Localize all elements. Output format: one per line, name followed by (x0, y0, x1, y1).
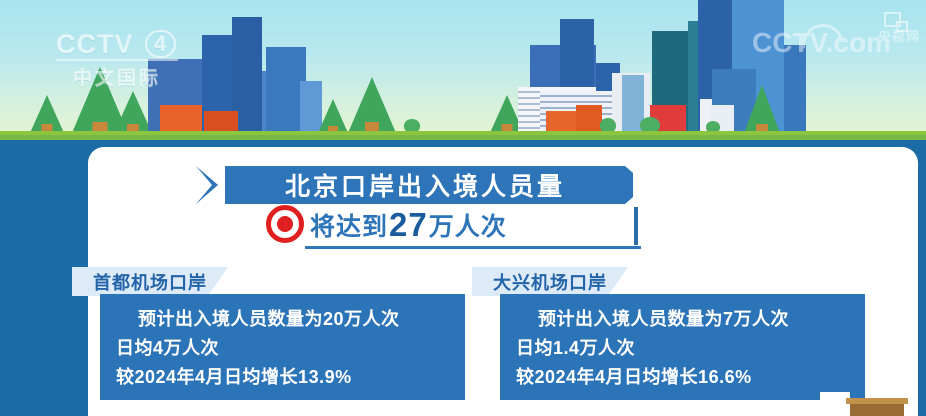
building-orange (546, 111, 576, 133)
tree (318, 93, 348, 133)
tab-slant-edge (208, 267, 228, 296)
subtitle-prefix: 将达到 (310, 207, 388, 243)
card-tab-label: 首都机场口岸 (93, 267, 207, 296)
card-line: 日均4万人次 (116, 334, 465, 363)
overlapping-squares-icon (884, 12, 910, 34)
building-red (204, 111, 238, 133)
headline-underline (305, 246, 641, 249)
card-tab-label: 大兴机场口岸 (493, 267, 607, 296)
card-line: 日均1.4万人次 (516, 334, 865, 363)
city-skyline-illustration (0, 0, 926, 140)
card-line: 预计出入境人员数量为20万人次 (138, 305, 465, 334)
red-target-icon (266, 205, 304, 243)
subtitle-suffix: 万人次 (429, 207, 507, 243)
tab-slant-edge (608, 267, 628, 296)
card-daxing-airport: 预计出入境人员数量为7万人次 日均1.4万人次 较2024年4月日均增长16.6… (500, 294, 865, 400)
ground-shadow (0, 135, 926, 140)
headline-subtitle: 将达到 27 万人次 (310, 206, 630, 244)
building-orange (576, 105, 602, 133)
tree (114, 83, 152, 133)
subtitle-number: 27 (388, 206, 429, 244)
banner-right-chevron-inner (633, 166, 649, 204)
tree (30, 87, 64, 133)
headline-banner-title: 北京口岸出入境人员量 (225, 166, 625, 204)
building-red (160, 105, 202, 133)
banner-left-chevron-inner (196, 166, 212, 204)
card-tab-capital-airport[interactable]: 首都机场口岸 (72, 267, 208, 296)
desk-object (846, 398, 908, 416)
building (784, 45, 806, 133)
headline-right-tick (634, 207, 638, 245)
card-line: 预计出入境人员数量为7万人次 (538, 305, 865, 334)
card-tab-daxing-airport[interactable]: 大兴机场口岸 (472, 267, 608, 296)
card-line: 较2024年4月日均增长16.6% (516, 363, 865, 392)
card-capital-airport: 预计出入境人员数量为20万人次 日均4万人次 较2024年4月日均增长13.9% (100, 294, 465, 400)
tree (348, 67, 396, 133)
card-line: 较2024年4月日均增长13.9% (116, 363, 465, 392)
tree (744, 77, 780, 133)
